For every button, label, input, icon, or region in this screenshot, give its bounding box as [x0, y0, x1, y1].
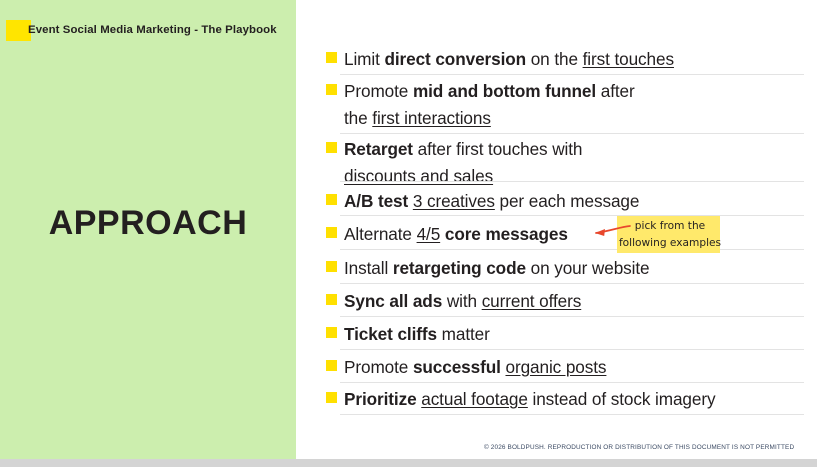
row-divider: [340, 249, 804, 250]
row-divider: [340, 283, 804, 284]
slide-canvas: Event Social Media Marketing - The Playb…: [0, 0, 817, 467]
bullet-square-icon: [326, 360, 337, 371]
row-divider: [340, 74, 804, 75]
left-green-panel: Event Social Media Marketing - The Playb…: [0, 0, 296, 459]
bullet-square-icon: [326, 52, 337, 63]
callout-text: pick from the following examples: [618, 218, 722, 251]
bullet-square-icon: [326, 294, 337, 305]
callout-arrow-icon: [592, 222, 632, 242]
row-divider: [340, 414, 804, 415]
footer-copyright: © 2026 BOLDPUSH. REPRODUCTION OR DISTRIB…: [484, 444, 804, 451]
bullet-square-icon: [326, 84, 337, 95]
list-item-text: Install retargeting code on your website: [344, 255, 814, 282]
list-item-text: A/B test 3 creatives per each message: [344, 188, 814, 215]
brand-title: Event Social Media Marketing - The Playb…: [28, 21, 290, 39]
bullet-square-icon: [326, 327, 337, 338]
row-divider: [340, 181, 804, 182]
row-divider: [340, 316, 804, 317]
list-item-text: Promote successful organic posts: [344, 354, 814, 381]
list-item-text: Ticket cliffs matter: [344, 321, 814, 348]
list-item-text: Sync all ads with current offers: [344, 288, 814, 315]
bottom-strip: [0, 459, 817, 467]
list-item-text: Alternate 4/5 core messages: [344, 221, 814, 248]
row-divider: [340, 215, 804, 216]
bullet-square-icon: [326, 227, 337, 238]
bullet-square-icon: [326, 392, 337, 403]
bullet-square-icon: [326, 142, 337, 153]
row-divider: [340, 382, 804, 383]
row-divider: [340, 133, 804, 134]
bullet-list-panel: Limit direct conversion on the first tou…: [296, 0, 817, 459]
list-item-text: Limit direct conversion on the first tou…: [344, 46, 814, 73]
list-item-text: Prioritize actual footage instead of sto…: [344, 386, 814, 413]
callout-line-2: following examples: [619, 237, 721, 249]
page-title: APPROACH: [0, 204, 296, 243]
bullet-square-icon: [326, 194, 337, 205]
bullet-square-icon: [326, 261, 337, 272]
row-divider: [340, 349, 804, 350]
list-item-text: Promote mid and bottom funnel afterthe f…: [344, 78, 814, 132]
callout-line-1: pick from the: [635, 220, 705, 232]
